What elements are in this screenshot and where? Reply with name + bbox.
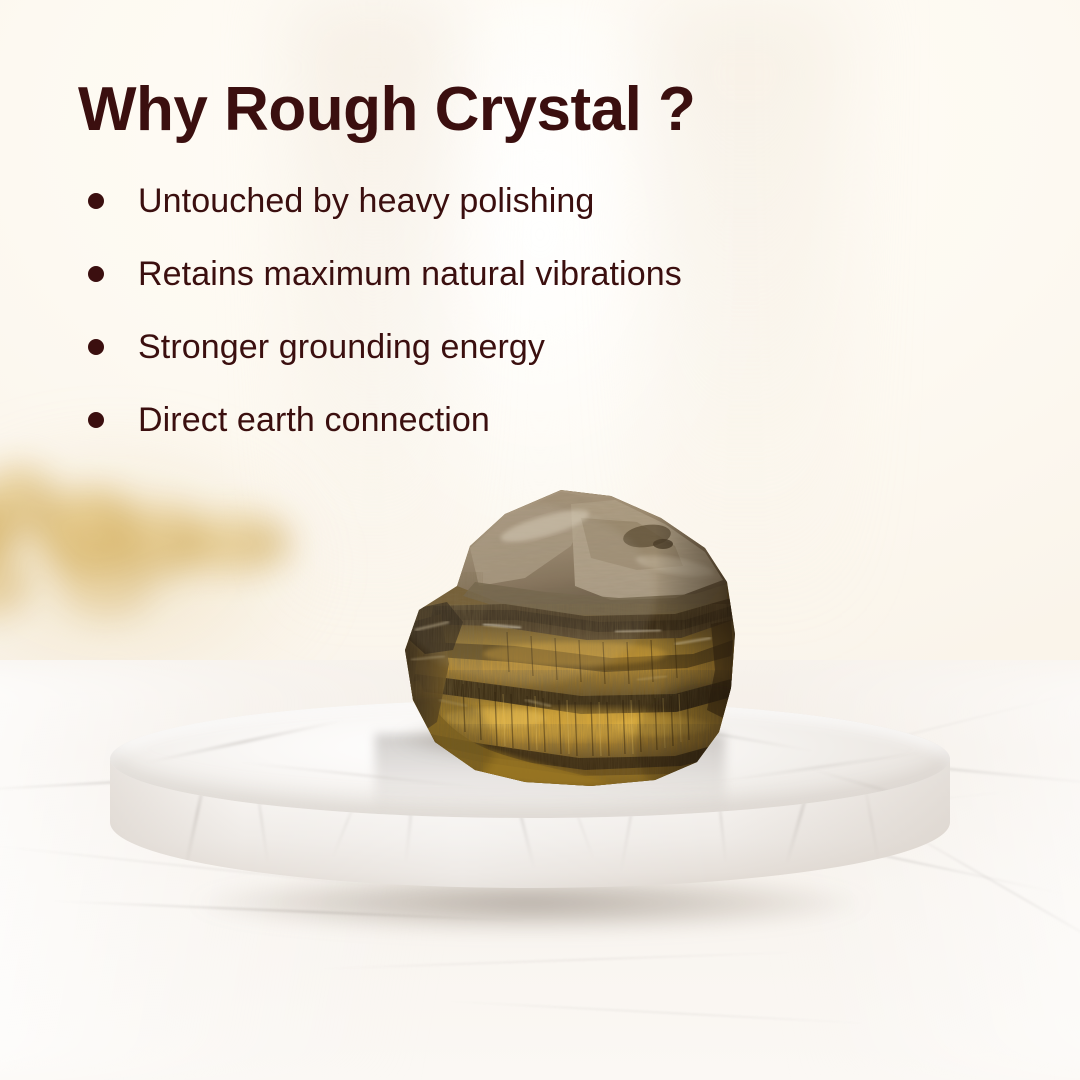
list-item-label: Retains maximum natural vibrations — [138, 256, 682, 293]
bullet-dot-icon — [88, 193, 104, 209]
page-title: Why Rough Crystal ? — [78, 78, 1010, 141]
list-item-label: Stronger grounding energy — [138, 329, 545, 366]
crystal-promo-graphic: Why Rough Crystal ? Untouched by heavy p… — [0, 0, 1080, 1080]
bullet-dot-icon — [88, 339, 104, 355]
benefits-list: Untouched by heavy polishing Retains max… — [78, 181, 1010, 440]
text-content-block: Why Rough Crystal ? Untouched by heavy p… — [0, 0, 1080, 473]
bullet-dot-icon — [88, 266, 104, 282]
list-item: Untouched by heavy polishing — [78, 181, 1010, 221]
list-item: Stronger grounding energy — [78, 327, 1010, 367]
dried-flowers-bokeh-icon — [0, 455, 330, 645]
bullet-dot-icon — [88, 412, 104, 428]
list-item: Retains maximum natural vibrations — [78, 254, 1010, 294]
list-item: Direct earth connection — [78, 400, 1010, 440]
rough-tigers-eye-crystal — [375, 474, 745, 794]
list-item-label: Direct earth connection — [138, 402, 490, 439]
crystal-illustration-icon — [375, 474, 745, 794]
list-item-label: Untouched by heavy polishing — [138, 183, 594, 220]
